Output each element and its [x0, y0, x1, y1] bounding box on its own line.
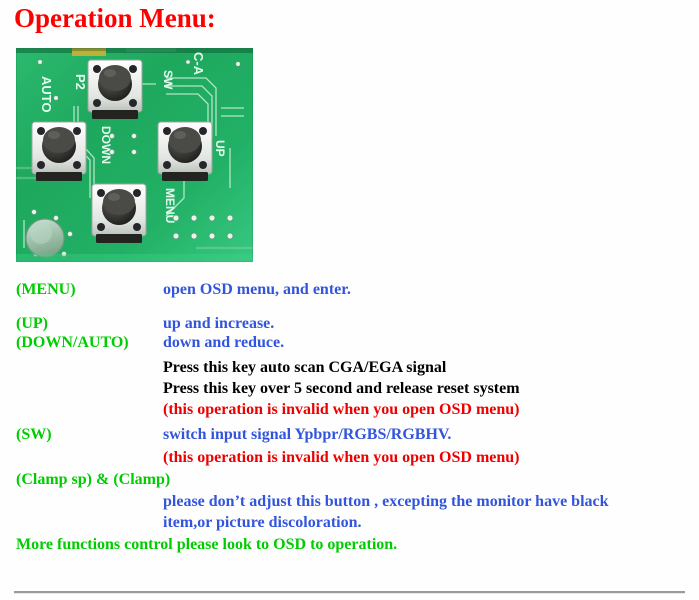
key-label-clamp: (Clamp sp) & (Clamp)	[16, 470, 170, 490]
desc-clamp-line-1-row: please don’t adjust this button , except…	[0, 492, 699, 514]
key-label-down-auto: (DOWN/AUTO)	[16, 333, 129, 353]
desc-up: up and increase.	[163, 314, 274, 334]
desc-clamp-1: please don’t adjust this button , except…	[163, 492, 609, 512]
tact-switch-up	[158, 122, 212, 181]
silkscreen-up: UP	[213, 140, 227, 157]
desc-down-warning: (this operation is invalid when you open…	[163, 400, 520, 420]
tact-switch-menu	[92, 184, 146, 243]
silkscreen-p2: P2	[73, 74, 88, 90]
entry-down-auto: (DOWN/AUTO) down and reduce.	[0, 333, 699, 355]
desc-down-auto: down and reduce.	[163, 333, 284, 353]
tact-switch-auto	[32, 122, 86, 181]
note-down-auto-1: Press this key auto scan CGA/EGA signal	[0, 358, 699, 380]
silkscreen-sw: SW	[161, 70, 175, 90]
entry-sw: (SW) switch input signal Ypbpr/RGBS/RGBH…	[0, 425, 699, 447]
desc-down-note-1: Press this key auto scan CGA/EGA signal	[163, 358, 446, 378]
desc-menu: open OSD menu, and enter.	[163, 280, 351, 300]
warning-down-auto: (this operation is invalid when you open…	[0, 400, 699, 422]
entry-clamp: (Clamp sp) & (Clamp)	[0, 470, 699, 492]
silkscreen-ca: C-A	[191, 52, 206, 76]
silkscreen-down: DOWN	[99, 126, 113, 164]
warning-sw: (this operation is invalid when you open…	[0, 448, 699, 470]
key-label-sw: (SW)	[16, 425, 52, 445]
pcb-photo-graphic: P2 AUTO C-A SW DOWN UP MENU	[16, 48, 253, 262]
tact-switch-sw	[88, 60, 142, 119]
desc-clamp-line-2-row: item,or picture discoloration.	[0, 513, 699, 535]
entry-menu: (MENU) open OSD menu, and enter.	[0, 280, 699, 302]
desc-sw-warning: (this operation is invalid when you open…	[163, 448, 520, 468]
pcb-button-board-photo: P2 AUTO C-A SW DOWN UP MENU	[16, 48, 253, 262]
horizontal-divider	[14, 591, 685, 594]
footer-note: More functions control please look to OS…	[16, 535, 397, 555]
desc-clamp-2: item,or picture discoloration.	[163, 513, 362, 533]
page-title: Operation Menu:	[14, 2, 216, 34]
silkscreen-auto: AUTO	[39, 76, 54, 113]
round-test-pad	[26, 219, 64, 257]
key-label-up: (UP)	[16, 314, 48, 334]
key-label-menu: (MENU)	[16, 280, 76, 300]
footer-note-row: More functions control please look to OS…	[0, 535, 699, 557]
note-down-auto-2: Press this key over 5 second and release…	[0, 379, 699, 401]
desc-down-note-2: Press this key over 5 second and release…	[163, 379, 520, 399]
desc-sw: switch input signal Ypbpr/RGBS/RGBHV.	[163, 425, 451, 445]
